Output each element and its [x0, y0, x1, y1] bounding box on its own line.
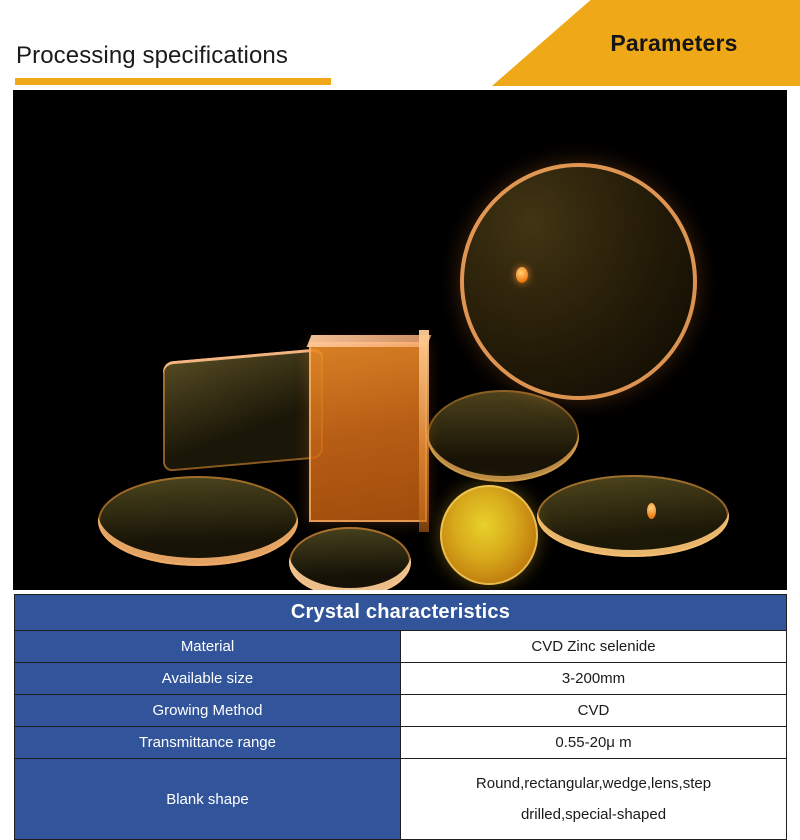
- row-label-available-size: Available size: [15, 663, 401, 695]
- row-value-blank-shape-line-1: Round,rectangular,wedge,lens,step: [401, 768, 786, 799]
- table-row: Transmittance range 0.55-20μ m: [15, 727, 787, 759]
- row-label-material: Material: [15, 631, 401, 663]
- row-value-blank-shape-line-2: drilled,special-shaped: [401, 799, 786, 830]
- optic-plate-thin-upright: [419, 330, 429, 532]
- page-title: Processing specifications: [16, 42, 288, 70]
- row-label-growing-method: Growing Method: [15, 695, 401, 727]
- row-label-blank-shape: Blank shape: [15, 759, 401, 840]
- row-value-growing-method: CVD: [401, 695, 787, 727]
- optic-disc-left-flat: [98, 476, 298, 566]
- parameters-ribbon-label: Parameters: [492, 0, 800, 86]
- page-header: Parameters Processing specifications: [0, 0, 800, 88]
- optic-plate-center: [309, 342, 427, 522]
- table-row: Growing Method CVD: [15, 695, 787, 727]
- product-photo: [13, 90, 787, 590]
- optics-scene: [13, 90, 787, 590]
- row-value-material: CVD Zinc selenide: [401, 631, 787, 663]
- optic-plate-center-top-face: [307, 335, 432, 347]
- row-value-available-size: 3-200mm: [401, 663, 787, 695]
- row-value-transmittance-range: 0.55-20μ m: [401, 727, 787, 759]
- title-underline-bar: [15, 78, 331, 85]
- optic-lens-yellow: [440, 485, 538, 585]
- table-row: Blank shape Round,rectangular,wedge,lens…: [15, 759, 787, 840]
- table-row: Available size 3-200mm: [15, 663, 787, 695]
- optic-disc-middle: [427, 390, 579, 482]
- table-row: Material CVD Zinc selenide: [15, 631, 787, 663]
- table-title-cell: Crystal characteristics: [15, 595, 787, 631]
- table-body: Crystal characteristics Material CVD Zin…: [15, 595, 787, 840]
- optic-disc-right-flat: [537, 475, 729, 557]
- optic-disc-small-front: [289, 527, 411, 590]
- optic-disc-large-upright: [460, 163, 697, 400]
- row-value-blank-shape: Round,rectangular,wedge,lens,step drille…: [401, 759, 787, 840]
- crystal-characteristics-table: Crystal characteristics Material CVD Zin…: [14, 594, 787, 840]
- row-label-transmittance-range: Transmittance range: [15, 727, 401, 759]
- table-title-row: Crystal characteristics: [15, 595, 787, 631]
- optic-plate-left: [163, 348, 323, 472]
